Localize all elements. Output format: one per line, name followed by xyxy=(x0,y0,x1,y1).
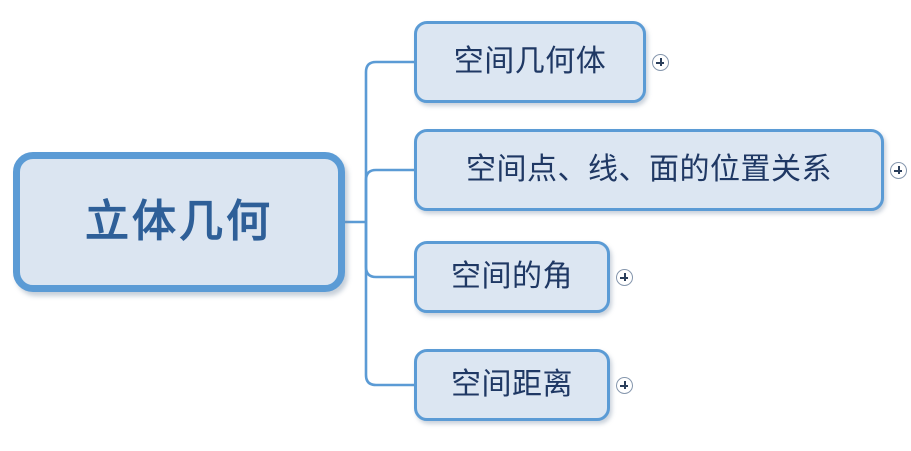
mindmap-root-node[interactable]: 立体几何 xyxy=(13,152,345,292)
expand-node-3-circled-plus-icon[interactable] xyxy=(616,269,633,286)
mindmap-child-label-3: 空间的角 xyxy=(451,262,573,292)
mindmap-child-label-4: 空间距离 xyxy=(451,370,573,400)
mindmap-child-node-3[interactable]: 空间的角 xyxy=(414,241,610,313)
mindmap-child-label-1: 空间几何体 xyxy=(454,47,607,77)
mindmap-child-node-1[interactable]: 空间几何体 xyxy=(414,21,646,103)
connector-branch-2 xyxy=(366,170,414,222)
connector-branch-1 xyxy=(366,62,414,222)
connector-branch-3 xyxy=(366,222,414,277)
mindmap-root-label: 立体几何 xyxy=(85,200,273,244)
mindmap-child-node-4[interactable]: 空间距离 xyxy=(414,349,610,421)
mindmap-child-label-2: 空间点、线、面的位置关系 xyxy=(466,155,832,185)
mindmap-child-node-2[interactable]: 空间点、线、面的位置关系 xyxy=(414,129,884,211)
expand-node-2-circled-plus-icon[interactable] xyxy=(890,162,907,179)
expand-node-4-circled-plus-icon[interactable] xyxy=(616,377,633,394)
connector-branch-4 xyxy=(366,222,414,385)
expand-node-1-circled-plus-icon[interactable] xyxy=(652,54,669,71)
mindmap-canvas: 立体几何 空间几何体 空间点、线、面的位置关系 空间的角 空间距离 xyxy=(0,0,911,451)
